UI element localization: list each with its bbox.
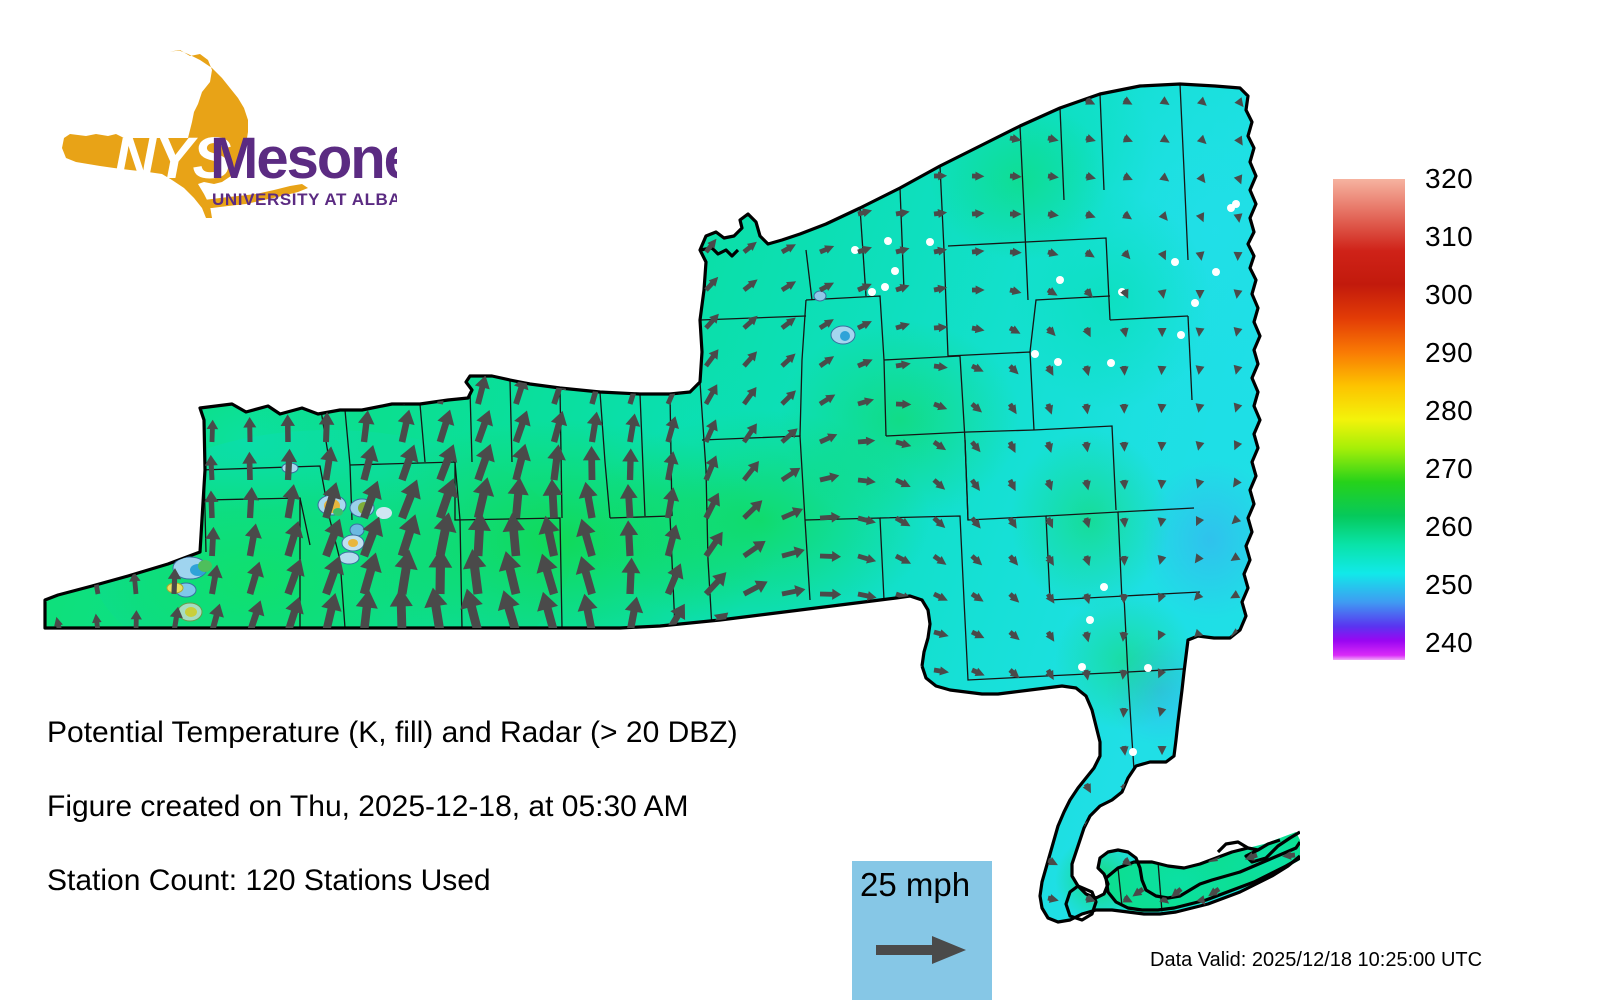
wind-arrow bbox=[858, 627, 877, 637]
wind-arrow bbox=[1158, 819, 1171, 832]
wind-arrow bbox=[586, 234, 597, 252]
wind-arrow bbox=[246, 203, 258, 216]
wind-arrow bbox=[1008, 856, 1023, 869]
station-marker bbox=[1056, 748, 1064, 756]
station-marker bbox=[1046, 699, 1054, 707]
wind-arrow bbox=[701, 646, 732, 676]
wind-arrow bbox=[740, 84, 754, 101]
wind-arrow bbox=[170, 351, 184, 368]
wind-arrow bbox=[279, 634, 303, 672]
wind-arrow bbox=[395, 341, 408, 366]
wind-arrow bbox=[284, 310, 297, 329]
wind-arrow bbox=[245, 347, 259, 367]
wind-arrow bbox=[360, 273, 371, 291]
wind-arrow bbox=[205, 681, 223, 709]
wind-arrow bbox=[244, 90, 254, 100]
wind-arrow bbox=[397, 272, 407, 290]
wind-arrow bbox=[580, 632, 602, 671]
station-marker bbox=[1078, 663, 1086, 671]
wind-arrow bbox=[624, 160, 635, 177]
wind-arrow bbox=[319, 378, 333, 404]
wind-arrow bbox=[510, 198, 521, 215]
wind-arrow bbox=[436, 236, 445, 252]
wind-arrow bbox=[130, 167, 140, 177]
wind-arrow bbox=[779, 124, 796, 141]
wind-arrow bbox=[1232, 745, 1242, 755]
wind-arrow bbox=[472, 235, 483, 252]
wind-arrow bbox=[625, 198, 635, 215]
wind-arrow bbox=[778, 85, 794, 102]
wind-arrow bbox=[501, 669, 526, 710]
wind-arrow bbox=[56, 392, 69, 406]
wind-arrow bbox=[168, 128, 178, 138]
wind-arrow bbox=[94, 390, 107, 406]
wind-arrow bbox=[129, 497, 142, 518]
wind-arrow bbox=[471, 340, 487, 367]
colorbar-tick-280: 280 bbox=[1425, 397, 1473, 425]
wind-arrow bbox=[740, 161, 756, 179]
wind-arrow bbox=[1082, 745, 1094, 758]
wind-arrow bbox=[93, 652, 102, 670]
wind-arrow bbox=[971, 134, 985, 145]
station-marker bbox=[1086, 616, 1094, 624]
wind-arrow bbox=[819, 624, 841, 637]
wind-arrow bbox=[509, 271, 521, 291]
wind-arrow bbox=[166, 494, 181, 519]
wind-arrow bbox=[92, 205, 102, 215]
wind-arrow bbox=[208, 167, 217, 176]
wind-arrow bbox=[206, 90, 216, 100]
wind-arrow bbox=[548, 271, 559, 290]
wind-arrow bbox=[1044, 781, 1058, 795]
wind-arrow bbox=[934, 96, 948, 106]
station-marker bbox=[1144, 664, 1152, 672]
wind-arrow bbox=[322, 164, 334, 178]
wind-arrow bbox=[664, 123, 673, 139]
wind-arrow bbox=[740, 687, 767, 713]
wind-arrow bbox=[818, 659, 841, 675]
wind-arrow bbox=[1121, 819, 1134, 832]
wind-arrow bbox=[246, 166, 256, 177]
wind-arrow bbox=[664, 272, 682, 293]
wind-arrow bbox=[395, 375, 412, 405]
wind-arrow bbox=[537, 629, 564, 672]
wind-arrow bbox=[780, 620, 806, 638]
wind-arrow bbox=[360, 237, 373, 253]
wind-arrow bbox=[436, 125, 448, 140]
wind-arrow bbox=[662, 679, 692, 712]
wind-arrow bbox=[495, 627, 526, 673]
wind-arrow bbox=[132, 242, 142, 252]
wind-arrow bbox=[587, 271, 598, 291]
station-marker bbox=[1100, 583, 1108, 591]
wind-arrow bbox=[857, 130, 873, 143]
wind-arrow bbox=[398, 125, 410, 139]
wind-arrow bbox=[857, 662, 877, 675]
station-marker bbox=[1232, 200, 1240, 208]
wind-arrow bbox=[1234, 783, 1244, 793]
wind-arrow bbox=[510, 340, 528, 367]
wind-arrow bbox=[56, 429, 69, 444]
station-marker bbox=[1107, 359, 1115, 367]
caption-block: Potential Temperature (K, fill) and Rada… bbox=[47, 718, 867, 940]
wind-arrow bbox=[970, 704, 986, 718]
wind-arrow bbox=[474, 124, 486, 139]
wind-arrow bbox=[895, 628, 913, 639]
wind-arrow bbox=[664, 85, 674, 101]
wind-arrow bbox=[284, 128, 294, 139]
wind-arrow bbox=[740, 122, 755, 140]
wind-arrow bbox=[933, 742, 949, 753]
wind-arrow bbox=[512, 124, 522, 139]
wind-arrow bbox=[1046, 96, 1060, 109]
wind-arrow bbox=[546, 198, 558, 215]
wind-arrow bbox=[320, 344, 332, 366]
wind-arrow bbox=[166, 530, 181, 556]
station-marker bbox=[1212, 268, 1220, 276]
station-marker bbox=[1054, 358, 1062, 366]
wind-arrow bbox=[383, 627, 412, 672]
station-marker bbox=[1177, 331, 1185, 339]
wind-arrow bbox=[584, 197, 596, 215]
wind-arrow bbox=[970, 780, 986, 794]
wind-arrow bbox=[168, 458, 180, 480]
wind-arrow bbox=[94, 317, 106, 330]
wind-arrow bbox=[284, 202, 297, 216]
wind-arrow bbox=[322, 238, 336, 254]
wind-arrow bbox=[131, 91, 140, 100]
wind-arrow bbox=[131, 649, 145, 671]
colorbar-tick-300: 300 bbox=[1425, 281, 1473, 309]
station-marker bbox=[868, 288, 876, 296]
wind-arrow bbox=[474, 86, 486, 101]
wind-arrow bbox=[382, 668, 412, 711]
wind-arrow bbox=[420, 667, 450, 710]
wind-arrow bbox=[322, 127, 333, 139]
wind-arrow bbox=[547, 160, 558, 176]
wind-arrow bbox=[664, 308, 684, 330]
wind-arrow bbox=[434, 271, 445, 290]
colorbar-tick-240: 240 bbox=[1425, 629, 1473, 657]
wind-arrow bbox=[1084, 856, 1098, 869]
wind-arrow bbox=[856, 697, 876, 712]
wind-arrow bbox=[1007, 705, 1022, 720]
wind-arrow bbox=[818, 204, 835, 218]
wind-arrow bbox=[587, 306, 602, 329]
wind-arrow bbox=[970, 818, 986, 832]
wind-arrow bbox=[398, 236, 409, 253]
wind-arrow bbox=[702, 122, 714, 139]
wind-arrow bbox=[471, 271, 483, 291]
wind-arrow bbox=[56, 129, 65, 138]
wind-arrow bbox=[360, 200, 373, 215]
wind-arrow bbox=[207, 384, 220, 405]
wind-arrow bbox=[1158, 783, 1169, 795]
wind-arrow bbox=[94, 427, 107, 444]
wind-arrow bbox=[93, 243, 102, 252]
wind-arrow bbox=[316, 631, 338, 670]
wind-arrow bbox=[625, 271, 639, 292]
wind-arrow bbox=[55, 167, 65, 177]
wind-arrow bbox=[934, 134, 948, 144]
wind-arrow bbox=[550, 86, 560, 101]
wind-arrow bbox=[436, 87, 448, 101]
wind-arrow bbox=[622, 675, 650, 711]
wind-arrow bbox=[208, 313, 222, 330]
wind-arrow bbox=[586, 341, 605, 368]
wind-arrow bbox=[1282, 885, 1296, 895]
wind-arrow bbox=[896, 778, 912, 789]
wind-arrow bbox=[205, 641, 227, 672]
wind-arrow bbox=[360, 89, 370, 101]
data-valid-timestamp: Data Valid: 2025/12/18 10:25:00 UTC bbox=[1150, 950, 1482, 970]
wind-arrow bbox=[127, 534, 141, 557]
wind-arrow bbox=[283, 90, 293, 100]
wind-arrow bbox=[896, 170, 911, 180]
wind-arrow bbox=[625, 307, 643, 330]
wind-arrow bbox=[132, 388, 146, 405]
wind-arrow bbox=[895, 701, 913, 712]
wind-arrow bbox=[321, 309, 333, 329]
wind-arrow bbox=[780, 202, 798, 218]
wind-arrow bbox=[970, 742, 986, 756]
wind-arrow bbox=[280, 676, 297, 708]
wind-arrow bbox=[90, 537, 102, 557]
wind-arrow bbox=[1234, 821, 1245, 832]
wind-arrow bbox=[971, 96, 985, 108]
wind-arrow bbox=[1230, 706, 1242, 718]
wind-legend-arrow-icon bbox=[876, 933, 968, 967]
wind-arrow bbox=[1228, 667, 1241, 680]
wind-arrow bbox=[284, 239, 298, 254]
colorbar-tick-320: 320 bbox=[1425, 165, 1473, 193]
wind-arrow bbox=[242, 637, 266, 672]
wind-arrow bbox=[170, 278, 183, 292]
wind-arrow bbox=[779, 163, 797, 179]
colorbar-tick-250: 250 bbox=[1425, 571, 1473, 599]
wind-arrow bbox=[169, 422, 181, 443]
wind-arrow bbox=[702, 198, 718, 216]
wind-arrow bbox=[664, 197, 676, 215]
station-marker bbox=[881, 283, 889, 291]
colorbar-tick-260: 260 bbox=[1425, 513, 1473, 541]
wind-arrow bbox=[170, 315, 184, 330]
wind-arrow bbox=[322, 90, 331, 100]
wind-arrow bbox=[436, 199, 447, 215]
potential-temperature-colorbar bbox=[1333, 179, 1405, 660]
wind-arrow bbox=[856, 90, 873, 104]
station-count-label: Station Count: 120 Stations Used bbox=[47, 866, 867, 896]
wind-arrow bbox=[460, 667, 488, 710]
wind-arrow bbox=[208, 203, 219, 214]
wind-arrow bbox=[357, 343, 370, 367]
wind-arrow bbox=[132, 316, 145, 330]
station-marker bbox=[1171, 854, 1179, 862]
wind-arrow bbox=[509, 234, 521, 252]
wind-arrow bbox=[1168, 852, 1184, 867]
wind-arrow bbox=[347, 670, 374, 710]
wind-arrow bbox=[817, 87, 834, 103]
wind-arrow bbox=[511, 161, 520, 176]
wind-arrow bbox=[170, 386, 183, 405]
wind-arrow bbox=[55, 281, 64, 290]
wind-arrow bbox=[322, 274, 335, 292]
wind-arrow bbox=[1196, 783, 1207, 794]
wind-arrow bbox=[433, 306, 445, 328]
wind-arrow bbox=[398, 200, 410, 216]
wind-arrow bbox=[818, 126, 835, 141]
wind-arrow bbox=[586, 85, 596, 100]
wind-arrow bbox=[621, 634, 649, 673]
wind-arrow bbox=[473, 199, 482, 214]
wind-arrow bbox=[818, 694, 841, 713]
wind-arrow bbox=[583, 673, 602, 708]
wind-arrow bbox=[92, 167, 102, 177]
wind-arrow bbox=[246, 239, 259, 253]
wind-arrow bbox=[94, 691, 105, 708]
wind-arrow bbox=[933, 704, 949, 715]
wind-arrow bbox=[779, 691, 804, 713]
wind-arrow bbox=[624, 122, 634, 138]
wind-arrow bbox=[169, 91, 179, 101]
wind-arrow bbox=[548, 306, 562, 329]
wind-arrow bbox=[933, 818, 949, 830]
wind-arrow bbox=[245, 129, 254, 138]
wind-arrow bbox=[896, 132, 910, 142]
wind-arrow bbox=[322, 201, 335, 216]
wind-arrow bbox=[131, 205, 140, 214]
colorbar-tick-270: 270 bbox=[1425, 455, 1473, 483]
wind-arrow bbox=[741, 651, 770, 676]
wind-arrow bbox=[132, 424, 144, 443]
wind-arrow bbox=[170, 205, 180, 215]
wind-arrow bbox=[512, 86, 523, 101]
wind-arrow bbox=[131, 688, 145, 709]
wind-arrow bbox=[1234, 896, 1246, 908]
wind-arrow bbox=[246, 312, 260, 330]
wind-arrow bbox=[818, 166, 835, 180]
wind-arrow bbox=[585, 123, 597, 139]
wind-arrow bbox=[549, 123, 559, 138]
wind-arrow bbox=[455, 626, 488, 673]
station-marker bbox=[1191, 299, 1199, 307]
wind-arrow bbox=[626, 234, 637, 252]
wind-arrow bbox=[1192, 706, 1204, 718]
wind-arrow bbox=[418, 626, 451, 673]
wind-arrow bbox=[284, 165, 295, 177]
wind-arrow bbox=[359, 308, 370, 328]
figure-created-timestamp: Figure created on Thu, 2025-12-18, at 05… bbox=[47, 792, 867, 822]
wind-arrow bbox=[1044, 706, 1057, 720]
wind-arrow bbox=[933, 780, 949, 792]
wind-arrow bbox=[624, 342, 644, 368]
wind-arrow bbox=[56, 466, 68, 481]
wind-arrow bbox=[626, 85, 635, 100]
wind-arrow bbox=[131, 129, 141, 139]
wind-arrow bbox=[895, 739, 912, 750]
wind-arrow bbox=[702, 160, 716, 178]
wind-arrow bbox=[663, 344, 684, 369]
wind-arrow bbox=[436, 162, 448, 177]
station-marker bbox=[1056, 276, 1064, 284]
wind-arrow bbox=[896, 817, 911, 827]
wind-arrow bbox=[433, 341, 447, 366]
wind-arrow bbox=[1007, 818, 1022, 832]
station-marker bbox=[1129, 748, 1137, 756]
wind-arrow bbox=[208, 349, 222, 368]
wind-arrow bbox=[94, 91, 104, 101]
wind-arrow bbox=[208, 240, 220, 253]
wind-arrow bbox=[93, 129, 102, 138]
wind-arrow bbox=[56, 355, 68, 367]
wind-arrow bbox=[661, 639, 693, 674]
wind-arrow bbox=[54, 243, 64, 253]
wind-legend-label: 25 mph bbox=[860, 867, 970, 903]
colorbar-tick-310: 310 bbox=[1425, 223, 1473, 251]
wind-arrow bbox=[56, 503, 65, 518]
wind-arrow bbox=[396, 307, 408, 328]
wind-arrow bbox=[780, 655, 806, 675]
wind-arrow bbox=[53, 654, 64, 670]
wind-arrow bbox=[53, 540, 64, 557]
wind-arrow bbox=[244, 382, 257, 405]
wind-arrow bbox=[56, 318, 66, 329]
wind-arrow bbox=[896, 665, 913, 675]
wind-arrow bbox=[857, 168, 873, 180]
wind-arrow bbox=[548, 340, 567, 367]
wind-arrow bbox=[93, 500, 103, 518]
wind-arrow bbox=[246, 276, 260, 292]
wind-arrow bbox=[1007, 781, 1022, 796]
wind-arrow bbox=[702, 84, 714, 101]
wind-arrow bbox=[351, 629, 375, 671]
wind-arrow bbox=[1007, 743, 1022, 758]
wind-arrow bbox=[284, 275, 298, 292]
wind-arrow bbox=[170, 241, 181, 253]
wind-arrow bbox=[472, 306, 484, 328]
wind-arrow bbox=[168, 685, 185, 710]
wind-arrow bbox=[357, 376, 372, 404]
colorbar-group: 320 310 300 290 280 270 260 250 240 bbox=[1333, 179, 1493, 664]
wind-arrow bbox=[543, 671, 564, 709]
wind-arrow bbox=[664, 234, 679, 253]
wind-arrow bbox=[55, 694, 64, 708]
wind-arrow bbox=[54, 204, 64, 214]
wind-arrow bbox=[132, 279, 143, 291]
wind-arrow bbox=[208, 277, 222, 292]
station-marker bbox=[891, 267, 899, 275]
wind-arrow bbox=[664, 160, 674, 176]
wind-arrow bbox=[510, 306, 522, 328]
wind-arrow bbox=[1044, 744, 1057, 758]
wind-arrow bbox=[283, 345, 296, 366]
figure-title: Potential Temperature (K, fill) and Rada… bbox=[47, 718, 867, 748]
wind-arrow bbox=[474, 162, 485, 177]
wind-arrow bbox=[131, 461, 142, 480]
wind-arrow bbox=[207, 129, 217, 139]
wind-arrow bbox=[1196, 820, 1208, 832]
wind-arrow bbox=[547, 234, 559, 252]
wind-arrow bbox=[313, 672, 335, 709]
wind-arrow bbox=[132, 352, 146, 368]
station-marker bbox=[1171, 258, 1179, 266]
wind-arrow bbox=[282, 380, 295, 404]
station-marker bbox=[926, 238, 934, 246]
wind-arrow bbox=[701, 683, 730, 712]
station-marker bbox=[884, 237, 892, 245]
wind-arrow bbox=[94, 463, 105, 480]
wind-arrow bbox=[1009, 894, 1022, 905]
